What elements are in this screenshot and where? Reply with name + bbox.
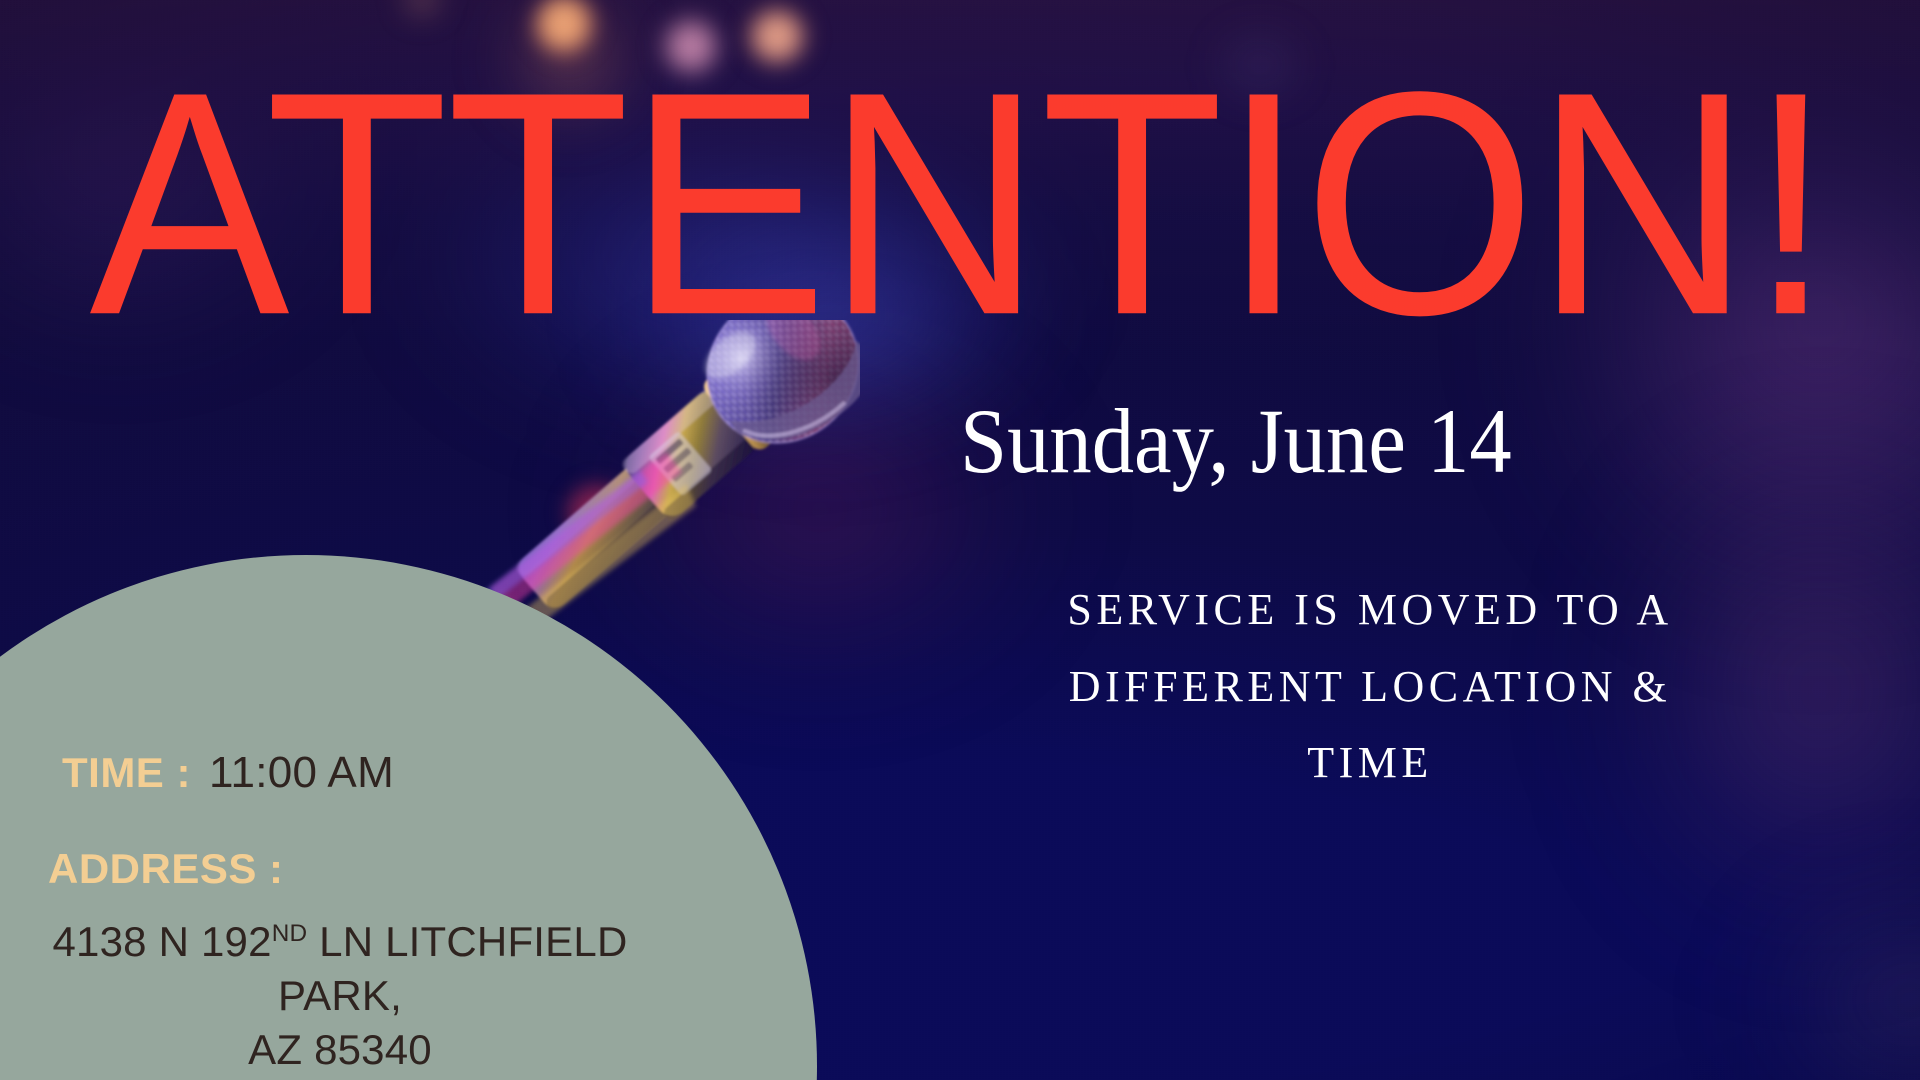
address-row: ADDRESS : (48, 845, 284, 893)
event-date: Sunday, June 14 (960, 388, 1788, 494)
address-line-2: AZ 85340 (0, 1023, 680, 1077)
time-label: TIME : (62, 749, 191, 797)
address-street-number: 4138 N 192 (53, 918, 272, 965)
page-title: ATTENTION! (0, 44, 1920, 362)
event-notice-line-2: DIFFERENT LOCATION & (860, 649, 1880, 726)
address-line-1: 4138 N 192ND LN LITCHFIELD PARK, (0, 915, 680, 1023)
event-notice-line-3: TIME (860, 725, 1880, 802)
address-street-name: LN LITCHFIELD PARK, (278, 918, 627, 1019)
event-notice-line-1: SERVICE IS MOVED TO A (860, 572, 1880, 649)
time-row: TIME : 11:00 AM (62, 748, 394, 798)
address-value: 4138 N 192ND LN LITCHFIELD PARK, AZ 8534… (0, 915, 680, 1076)
address-ordinal-suffix: ND (272, 920, 308, 947)
poster-canvas: ATTENTION! Sunday, June 14 SERVICE IS MO… (0, 0, 1920, 1080)
event-notice: SERVICE IS MOVED TO A DIFFERENT LOCATION… (860, 572, 1880, 802)
address-label: ADDRESS : (48, 845, 284, 892)
time-value: 11:00 AM (209, 748, 394, 798)
